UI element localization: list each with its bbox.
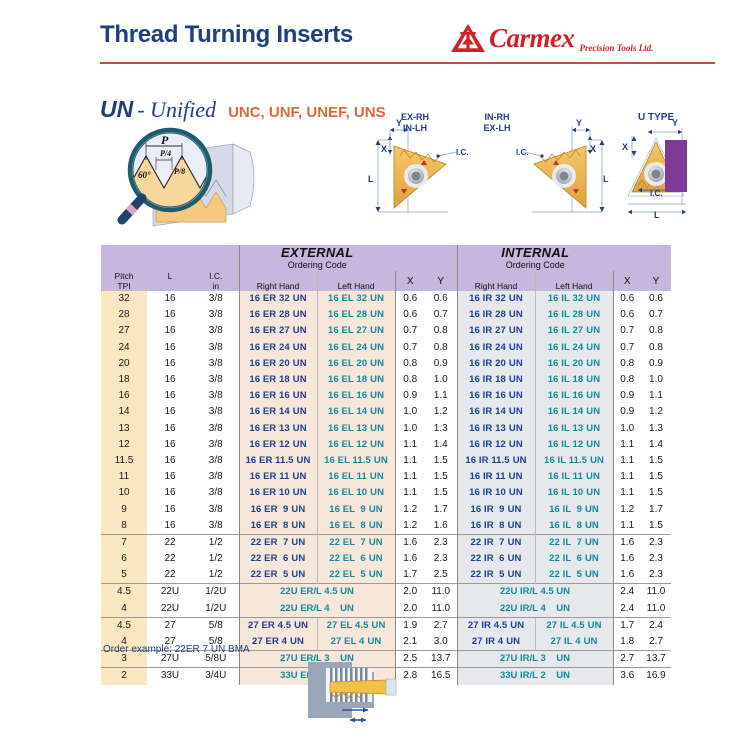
diagram-label-u-type: U TYPE [638,112,674,123]
cell-l: 16 [147,323,193,339]
cell-internal-y: 1.1 [641,388,671,404]
cell-ic: 3/8 [193,388,239,404]
cell-internal-right-hand: 16 IR 11.5UN [457,453,535,469]
cell-internal-x: 1.1 [613,453,641,469]
cell-l: 16 [147,291,193,307]
cell-l: 22 [147,551,193,567]
cell-internal-right-hand: 16 IR 16UN [457,388,535,404]
cell-pitch: 11 [101,469,147,485]
cell-external-x: 0.7 [395,323,425,339]
header-internal: INTERNAL [457,245,613,260]
cell-internal-y: 16.9 [641,668,671,685]
cell-external-y: 2.5 [425,567,457,584]
cell-internal-right-hand: 22 IR 5UN [457,567,535,584]
cell-ic: 1/2 [193,567,239,584]
cell-external-right-hand: 16 ER 10UN [239,485,317,501]
svg-text:L: L [603,174,609,184]
cell-internal-code: 33U IR/L 2 UN [457,668,613,685]
cell-ic: 5/8 [193,617,239,634]
cell-internal-x: 0.8 [613,356,641,372]
cell-internal-code: 22U IR/L 4.5 UN [457,584,613,601]
cell-pitch: 8 [101,518,147,535]
table-row: 9163/816 ER 9UN16 EL 9UN1.21.716 IR 9UN1… [101,501,671,517]
cell-internal-y: 0.6 [641,291,671,307]
cell-l: 16 [147,437,193,453]
cell-external-x: 0.6 [395,307,425,323]
cell-l: 16 [147,501,193,517]
header-external: EXTERNAL [239,245,395,260]
cell-external-left-hand: 16 EL 11.5UN [317,453,395,469]
cell-ic: 3/8 [193,421,239,437]
cell-internal-y: 2.3 [641,534,671,551]
cell-ic: 3/8 [193,485,239,501]
cell-external-left-hand: 16 EL 9UN [317,501,395,517]
table-row: 8163/816 ER 8UN16 EL 8UN1.21.616 IR 8UN1… [101,518,671,535]
table-row: 28163/816 ER 28UN16 EL 28UN0.60.716 IR 2… [101,307,671,323]
cell-external-right-hand: 27 ER 4.5UN [239,617,317,634]
cell-internal-y: 0.7 [641,307,671,323]
cell-ic: 1/2 [193,534,239,551]
cell-internal-left-hand: 16 IL 16UN [535,388,613,404]
cell-ic: 3/8 [193,469,239,485]
svg-text:60°: 60° [138,170,151,180]
carmex-tagline: Precision Tools Ltd. [580,43,654,55]
cell-external-left-hand: 16 EL 20UN [317,356,395,372]
table-row: 18163/816 ER 18UN16 EL 18UN0.81.016 IR 1… [101,372,671,388]
cell-internal-left-hand: 16 IL 13UN [535,421,613,437]
cell-internal-right-hand: 16 IR 12UN [457,437,535,453]
diagram-line2: EX-LH [484,123,511,133]
cell-pitch: 20 [101,356,147,372]
cell-internal-x: 2.4 [613,584,641,601]
cell-external-y: 1.0 [425,372,457,388]
cell-pitch: 32 [101,291,147,307]
cell-external-left-hand: 16 EL 27UN [317,323,395,339]
cell-internal-left-hand: 16 IL 9UN [535,501,613,517]
cell-internal-y: 2.3 [641,551,671,567]
cell-pitch: 28 [101,307,147,323]
cell-external-x: 1.7 [395,567,425,584]
header-ic: I.C. in [193,271,239,291]
insert-dimension-table: EXTERNAL INTERNAL Ordering Code Ordering… [101,245,671,685]
cell-external-left-hand: 16 EL 14UN [317,404,395,420]
cell-internal-left-hand: 16 IL 32UN [535,291,613,307]
cell-ic: 1/2 [193,551,239,567]
cell-external-right-hand: 16 ER 27UN [239,323,317,339]
cell-l: 16 [147,372,193,388]
cell-internal-x: 1.1 [613,469,641,485]
cell-internal-left-hand: 16 IL 10UN [535,485,613,501]
header-int-y: Y [641,271,671,291]
cell-external-y: 1.5 [425,469,457,485]
cell-pitch: 10 [101,485,147,501]
standard-code: UN [100,96,133,123]
header-ext-y: Y [425,271,457,291]
cell-external-x: 1.2 [395,518,425,535]
cell-ic: 1/2U [193,601,239,618]
cell-external-y: 1.3 [425,421,457,437]
header-ic-line2: in [212,281,219,291]
cell-pitch: 4.5 [101,584,147,601]
cell-internal-y: 0.8 [641,323,671,339]
cell-external-left-hand: 16 EL 24UN [317,340,395,356]
cell-l: 16 [147,421,193,437]
cell-internal-x: 1.7 [613,617,641,634]
cell-internal-x: 0.9 [613,388,641,404]
cell-external-left-hand: 22 EL 7UN [317,534,395,551]
cell-internal-y: 2.7 [641,634,671,651]
cell-internal-left-hand: 16 IL 24UN [535,340,613,356]
cell-external-left-hand: 22 EL 6UN [317,551,395,567]
cell-external-left-hand: 16 EL 13UN [317,421,395,437]
table-row: 16163/816 ER 16UN16 EL 16UN0.91.116 IR 1… [101,388,671,404]
cell-external-right-hand: 16 ER 12UN [239,437,317,453]
header-l-label: L [168,271,173,281]
cell-external-right-hand: 16 ER 24UN [239,340,317,356]
table-row: 10163/816 ER 10UN16 EL 10UN1.11.516 IR 1… [101,485,671,501]
cell-external-left-hand: 22 EL 5UN [317,567,395,584]
cell-external-right-hand: 16 ER 28UN [239,307,317,323]
cell-pitch: 16 [101,388,147,404]
cell-internal-y: 1.5 [641,518,671,535]
cell-internal-y: 1.5 [641,469,671,485]
cell-external-x: 2.0 [395,584,425,601]
cell-internal-y: 1.3 [641,421,671,437]
cell-internal-left-hand: 16 IL 14UN [535,404,613,420]
cell-external-y: 2.7 [425,617,457,634]
cell-external-left-hand: 16 EL 12UN [317,437,395,453]
cell-pitch: 24 [101,340,147,356]
cell-internal-x: 1.2 [613,501,641,517]
cell-external-left-hand: 16 EL 11UN [317,469,395,485]
svg-text:X: X [590,144,596,154]
cell-external-code: 22U ER/L 4.5 UN [239,584,395,601]
cell-external-y: 11.0 [425,584,457,601]
cell-internal-right-hand: 22 IR 6UN [457,551,535,567]
cell-ic: 3/8 [193,372,239,388]
cell-external-y: 1.7 [425,501,457,517]
section-accent-tab [665,140,687,192]
cell-internal-y: 1.0 [641,372,671,388]
cell-internal-right-hand: 27 IR 4UN [457,634,535,651]
header-pitch-line2: TPI [117,281,130,291]
cell-internal-left-hand: 22 IL 5UN [535,567,613,584]
table-row: 7221/222 ER 7UN22 EL 7UN1.62.322 IR 7UN2… [101,534,671,551]
cell-external-left-hand: 16 EL 28UN [317,307,395,323]
cell-internal-left-hand: 22 IL 7UN [535,534,613,551]
table-row: 13163/816 ER 13UN16 EL 13UN1.01.316 IR 1… [101,421,671,437]
cell-internal-right-hand: 16 IR 13UN [457,421,535,437]
cell-external-x: 0.8 [395,356,425,372]
svg-text:X: X [381,144,387,154]
cell-external-y: 1.6 [425,518,457,535]
cell-internal-y: 1.7 [641,501,671,517]
header-ext-x: X [395,271,425,291]
cell-l: 16 [147,518,193,535]
cell-external-y: 1.1 [425,388,457,404]
cell-internal-x: 1.1 [613,518,641,535]
cell-external-right-hand: 22 ER 7UN [239,534,317,551]
cell-internal-x: 1.0 [613,421,641,437]
table-row: 4.522U1/2U22U ER/L 4.5 UN2.011.022U IR/L… [101,584,671,601]
cell-l: 16 [147,388,193,404]
table-row: 27163/816 ER 27UN16 EL 27UN0.70.816 IR 2… [101,323,671,339]
cell-external-x: 0.9 [395,388,425,404]
cell-internal-y: 11.0 [641,584,671,601]
cell-pitch: 4 [101,601,147,618]
cell-external-left-hand: 16 EL 10UN [317,485,395,501]
cell-internal-left-hand: 16 IL 11UN [535,469,613,485]
cell-internal-right-hand: 16 IR 8UN [457,518,535,535]
cell-internal-x: 1.6 [613,567,641,584]
cell-external-y: 0.7 [425,307,457,323]
cell-external-y: 1.5 [425,453,457,469]
cell-internal-right-hand: 16 IR 28UN [457,307,535,323]
header-pitch-line1: Pitch [115,271,134,281]
cell-pitch: 27 [101,323,147,339]
cell-external-right-hand: 16 ER 20UN [239,356,317,372]
table-row: 32163/816 ER 32UN16 EL 32UN0.60.616 IR 3… [101,291,671,307]
table-row: 4.5275/827 ER 4.5UN27 EL 4.5UN1.92.727 I… [101,617,671,634]
cell-external-x: 0.7 [395,340,425,356]
cell-ic: 3/8 [193,307,239,323]
cell-external-x: 1.6 [395,534,425,551]
cell-internal-y: 0.9 [641,356,671,372]
svg-text:P: P [161,133,169,147]
header-l: L [147,271,193,291]
cell-internal-right-hand: 16 IR 10UN [457,485,535,501]
table-row: 6221/222 ER 6UN22 EL 6UN1.62.322 IR 6UN2… [101,551,671,567]
cell-external-x: 1.1 [395,469,425,485]
cell-internal-y: 0.8 [641,340,671,356]
cell-external-right-hand: 16 ER 11UN [239,469,317,485]
table-row: 11163/816 ER 11UN16 EL 11UN1.11.516 IR 1… [101,469,671,485]
cell-internal-left-hand: 16 IL 8UN [535,518,613,535]
threading-operation-illustration [300,660,410,740]
cell-ic: 3/8 [193,501,239,517]
cell-internal-code: 27U IR/L 3 UN [457,651,613,668]
cell-internal-right-hand: 16 IR 14UN [457,404,535,420]
insert-geometry-diagrams: Y X L I.C. [360,112,690,230]
cell-internal-y: 1.5 [641,485,671,501]
cell-external-x: 1.6 [395,551,425,567]
cell-ic: 3/8 [193,323,239,339]
svg-text:I.C.: I.C. [456,148,468,157]
cell-external-x: 1.9 [395,617,425,634]
cell-external-right-hand: 22 ER 6UN [239,551,317,567]
cell-pitch: 5 [101,567,147,584]
cell-pitch: 13 [101,421,147,437]
cell-external-x: 0.6 [395,291,425,307]
cell-internal-y: 1.4 [641,437,671,453]
cell-external-x: 1.0 [395,404,425,420]
table-row: 422U1/2U22U ER/L 4 UN2.011.022U IR/L 4 U… [101,601,671,618]
cell-internal-y: 1.5 [641,453,671,469]
cell-internal-right-hand: 22 IR 7UN [457,534,535,551]
cell-l: 22 [147,534,193,551]
cell-external-right-hand: 22 ER 5UN [239,567,317,584]
cell-internal-y: 1.2 [641,404,671,420]
cell-external-y: 1.2 [425,404,457,420]
cell-internal-x: 0.6 [613,307,641,323]
cell-l: 33U [147,668,193,685]
svg-text:L: L [654,210,660,220]
cell-pitch: 2 [101,668,147,685]
cell-internal-y: 2.3 [641,567,671,584]
cell-external-x: 1.1 [395,485,425,501]
cell-external-x: 1.1 [395,453,425,469]
header-int-left-hand: Left Hand [535,271,613,291]
cell-external-left-hand: 16 EL 8UN [317,518,395,535]
cell-external-left-hand: 16 EL 32UN [317,291,395,307]
cell-external-right-hand: 16 ER 14UN [239,404,317,420]
header-int-right-hand: Right Hand [457,271,535,291]
cell-internal-right-hand: 16 IR 20UN [457,356,535,372]
cell-l: 16 [147,485,193,501]
cell-l: 16 [147,356,193,372]
table-row: 11.5163/816 ER 11.5UN16 EL 11.5UN1.11.51… [101,453,671,469]
diagram-line1: IN-RH [485,112,510,122]
cell-external-x: 1.1 [395,437,425,453]
cell-ic: 3/8 [193,356,239,372]
svg-text:X: X [622,142,628,152]
cell-ic: 1/2U [193,584,239,601]
cell-internal-x: 0.7 [613,323,641,339]
cell-ic: 3/4U [193,668,239,685]
cell-external-right-hand: 27 ER 4UN [239,634,317,651]
cell-pitch: 12 [101,437,147,453]
cell-external-y: 1.4 [425,437,457,453]
cell-internal-right-hand: 16 IR 32UN [457,291,535,307]
cell-external-left-hand: 16 EL 18UN [317,372,395,388]
cell-internal-left-hand: 16 IL 27UN [535,323,613,339]
cell-external-code: 22U ER/L 4 UN [239,601,395,618]
svg-text:P/8: P/8 [174,167,185,176]
cell-internal-right-hand: 16 IR 11UN [457,469,535,485]
cell-pitch: 9 [101,501,147,517]
cell-external-y: 13.7 [425,651,457,668]
cell-internal-y: 13.7 [641,651,671,668]
cell-internal-x: 1.8 [613,634,641,651]
cell-external-x: 2.1 [395,634,425,651]
cell-external-y: 0.8 [425,323,457,339]
header-ordering-code-ext: Ordering Code [239,260,395,271]
cell-ic: 3/8 [193,518,239,535]
cell-pitch: 4.5 [101,617,147,634]
thread-profile-illustration: P P/4 P/8 60° [98,122,343,232]
cell-external-left-hand: 16 EL 16UN [317,388,395,404]
cell-external-y: 3.0 [425,634,457,651]
cell-internal-right-hand: 16 IR 9UN [457,501,535,517]
cell-l: 16 [147,453,193,469]
cell-internal-x: 2.7 [613,651,641,668]
cell-l: 27 [147,617,193,634]
cell-internal-x: 1.6 [613,551,641,567]
cell-internal-code: 22U IR/L 4 UN [457,601,613,618]
cell-ic: 3/8 [193,404,239,420]
header-pitch: Pitch TPI [101,271,147,291]
catalog-page: Thread Turning Inserts Carmex Precision … [0,0,747,747]
cell-l: 22U [147,601,193,618]
cell-internal-y: 2.4 [641,617,671,634]
order-example: Order example: 22ER 7 UN BMA [103,644,250,655]
cell-l: 16 [147,469,193,485]
cell-external-left-hand: 27 EL 4.5UN [317,617,395,634]
cell-internal-x: 3.6 [613,668,641,685]
cell-internal-right-hand: 16 IR 27UN [457,323,535,339]
cell-l: 22 [147,567,193,584]
thread-standard-subtitle: UN - Unified UNC, UNF, UNEF, UNS [100,96,386,123]
cell-external-y: 16.5 [425,668,457,685]
header-rule [100,62,715,64]
cell-external-y: 2.3 [425,534,457,551]
cell-pitch: 18 [101,372,147,388]
cell-external-right-hand: 16 ER 8UN [239,518,317,535]
header-int-x: X [613,271,641,291]
cell-external-y: 2.3 [425,551,457,567]
cell-pitch: 11.5 [101,453,147,469]
cell-internal-x: 0.7 [613,340,641,356]
header-ext-right-hand: Right Hand [239,271,317,291]
svg-text:I.C.: I.C. [650,189,662,198]
table-header-row3: Pitch TPI L I.C. in Right Hand Left Hand… [101,271,671,291]
cell-ic: 3/8 [193,340,239,356]
cell-internal-left-hand: 16 IL 28UN [535,307,613,323]
cell-internal-left-hand: 27 IL 4.5UN [535,617,613,634]
svg-text:I.C.: I.C. [516,148,528,157]
cell-internal-left-hand: 16 IL 18UN [535,372,613,388]
table-header-row: EXTERNAL INTERNAL [101,245,671,260]
header-ext-left-hand: Left Hand [317,271,395,291]
cell-external-x: 1.2 [395,501,425,517]
cell-l: 16 [147,307,193,323]
cell-external-right-hand: 16 ER 11.5UN [239,453,317,469]
cell-internal-x: 1.1 [613,485,641,501]
cell-l: 16 [147,404,193,420]
cell-internal-right-hand: 16 IR 18UN [457,372,535,388]
cell-pitch: 7 [101,534,147,551]
cell-pitch: 14 [101,404,147,420]
cell-internal-x: 2.4 [613,601,641,618]
diagram-label-ex-rh-in-lh: EX-RH IN-LH [388,112,442,133]
cell-internal-x: 0.9 [613,404,641,420]
diagram-line1: EX-RH [401,112,429,122]
cell-external-x: 2.0 [395,601,425,618]
svg-text:Y: Y [576,118,582,128]
cell-external-y: 0.6 [425,291,457,307]
svg-text:P/4: P/4 [160,149,171,158]
cell-external-y: 0.9 [425,356,457,372]
cell-external-right-hand: 16 ER 16UN [239,388,317,404]
cell-external-x: 1.0 [395,421,425,437]
cell-external-y: 0.8 [425,340,457,356]
cell-external-right-hand: 16 ER 13UN [239,421,317,437]
cell-internal-left-hand: 16 IL 20UN [535,356,613,372]
diagram-label-in-rh-ex-lh: IN-RH EX-LH [470,112,524,133]
cell-internal-x: 1.6 [613,534,641,551]
header-ic-line1: I.C. [209,271,222,281]
cell-ic: 3/8 [193,291,239,307]
cell-internal-x: 0.8 [613,372,641,388]
standard-name: - Unified [137,97,216,123]
cell-l: 16 [147,340,193,356]
cell-internal-x: 1.1 [613,437,641,453]
cell-pitch: 6 [101,551,147,567]
cell-external-x: 0.8 [395,372,425,388]
cell-internal-x: 0.6 [613,291,641,307]
cell-ic: 3/8 [193,437,239,453]
svg-text:L: L [368,174,374,184]
